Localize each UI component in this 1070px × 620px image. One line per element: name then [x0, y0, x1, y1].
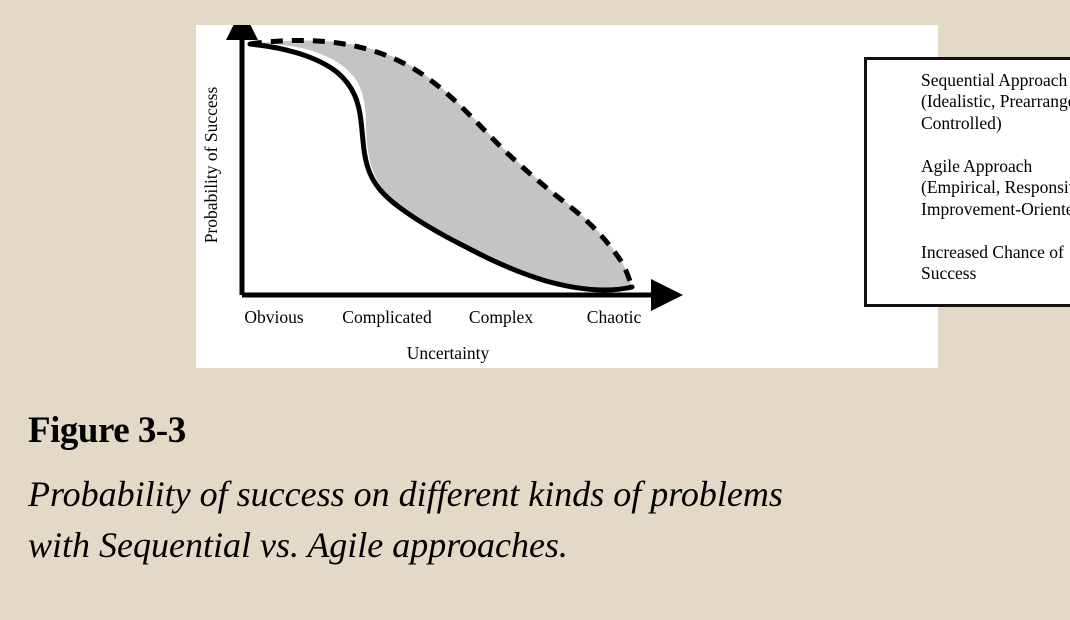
- legend-item-label: Sequential Approach (Idealistic, Prearra…: [921, 70, 1070, 134]
- chart-legend: Sequential Approach (Idealistic, Prearra…: [864, 57, 1070, 307]
- legend-item-sequential-approach: Sequential Approach (Idealistic, Prearra…: [879, 70, 1070, 134]
- x-tick-label-complex: Complex: [469, 307, 533, 327]
- figure-number: Figure 3-3: [28, 412, 1048, 449]
- figure-caption-text: Probability of success on different kind…: [28, 469, 1048, 571]
- chart-panel: Probability of Success Obvious Complicat…: [196, 25, 938, 368]
- chart-svg: Probability of Success Obvious Complicat…: [196, 25, 938, 368]
- x-tick-label-obvious: Obvious: [244, 307, 304, 327]
- legend-gray-swatch-icon: [879, 249, 913, 269]
- legend-item-increased-chance: Increased Chance of Success: [879, 242, 1070, 285]
- figure-container: Probability of Success Obvious Complicat…: [0, 0, 1070, 620]
- x-tick-label-chaotic: Chaotic: [587, 307, 642, 327]
- legend-item-agile-approach: Agile Approach (Empirical, Responsive, I…: [879, 156, 1070, 220]
- shaded-region-increased-chance: [250, 41, 632, 290]
- x-axis-title: Uncertainty: [407, 343, 490, 363]
- legend-solid-line-icon: [879, 77, 913, 97]
- y-axis-title: Probability of Success: [201, 87, 221, 244]
- legend-item-label: Increased Chance of Success: [921, 242, 1064, 285]
- legend-item-label: Agile Approach (Empirical, Responsive, I…: [921, 156, 1070, 220]
- figure-caption: Figure 3-3 Probability of success on dif…: [28, 412, 1048, 571]
- legend-dashed-line-icon: [879, 163, 913, 183]
- x-tick-label-complicated: Complicated: [342, 307, 432, 327]
